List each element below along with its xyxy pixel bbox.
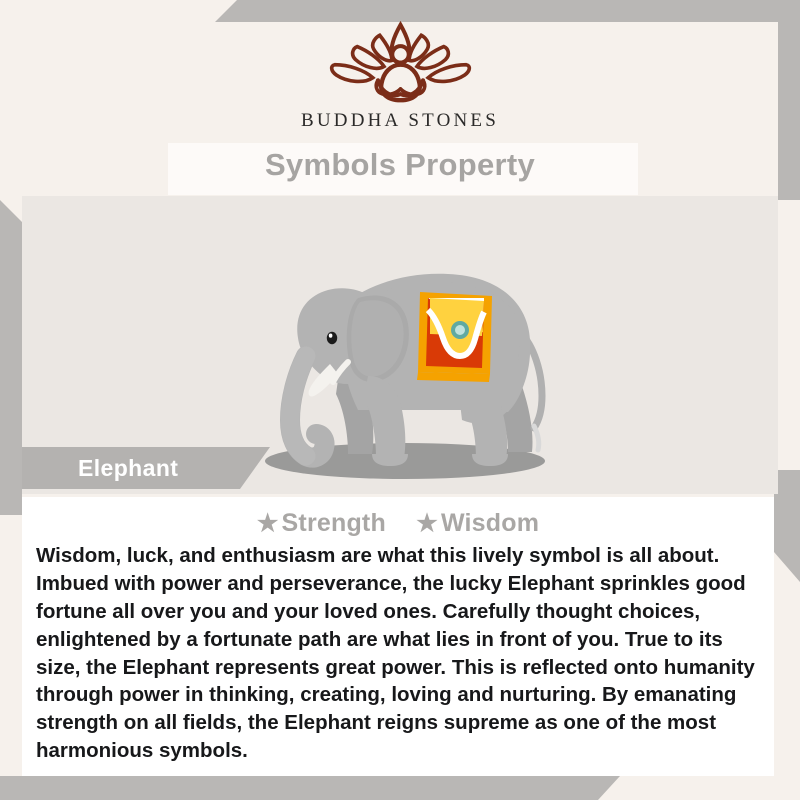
description-panel: ★Strength ★Wisdom Wisdom, luck, and enth… — [22, 497, 774, 776]
symbol-name-label: Elephant — [78, 455, 178, 482]
trait-wisdom: ★Wisdom — [416, 509, 539, 537]
trait-strength: ★Strength — [257, 509, 386, 537]
description-text: Wisdom, luck, and enthusiasm are what th… — [36, 542, 760, 765]
frame-left-wedge-accent — [0, 200, 22, 262]
trait-strength-label: Strength — [282, 509, 386, 537]
elephant-eye — [327, 332, 337, 344]
frame-bottom-accent — [0, 776, 620, 800]
brand-name: BUDDHA STONES — [301, 110, 499, 132]
elephant-saddle — [417, 292, 492, 382]
symbol-info-card: BUDDHA STONES Symbols Property — [0, 0, 800, 800]
brand-header: BUDDHA STONES — [0, 0, 800, 148]
trait-list: ★Strength ★Wisdom — [22, 509, 774, 538]
star-icon: ★ — [416, 510, 438, 537]
frame-left-column-accent — [0, 255, 22, 515]
trait-wisdom-label: Wisdom — [441, 509, 539, 537]
symbol-name-ribbon: Elephant — [22, 447, 270, 489]
brand-logo: BUDDHA STONES — [0, 18, 800, 132]
lotus-meditation-logo-icon — [313, 18, 488, 108]
star-icon: ★ — [257, 510, 279, 537]
page-title: Symbols Property — [0, 147, 800, 183]
